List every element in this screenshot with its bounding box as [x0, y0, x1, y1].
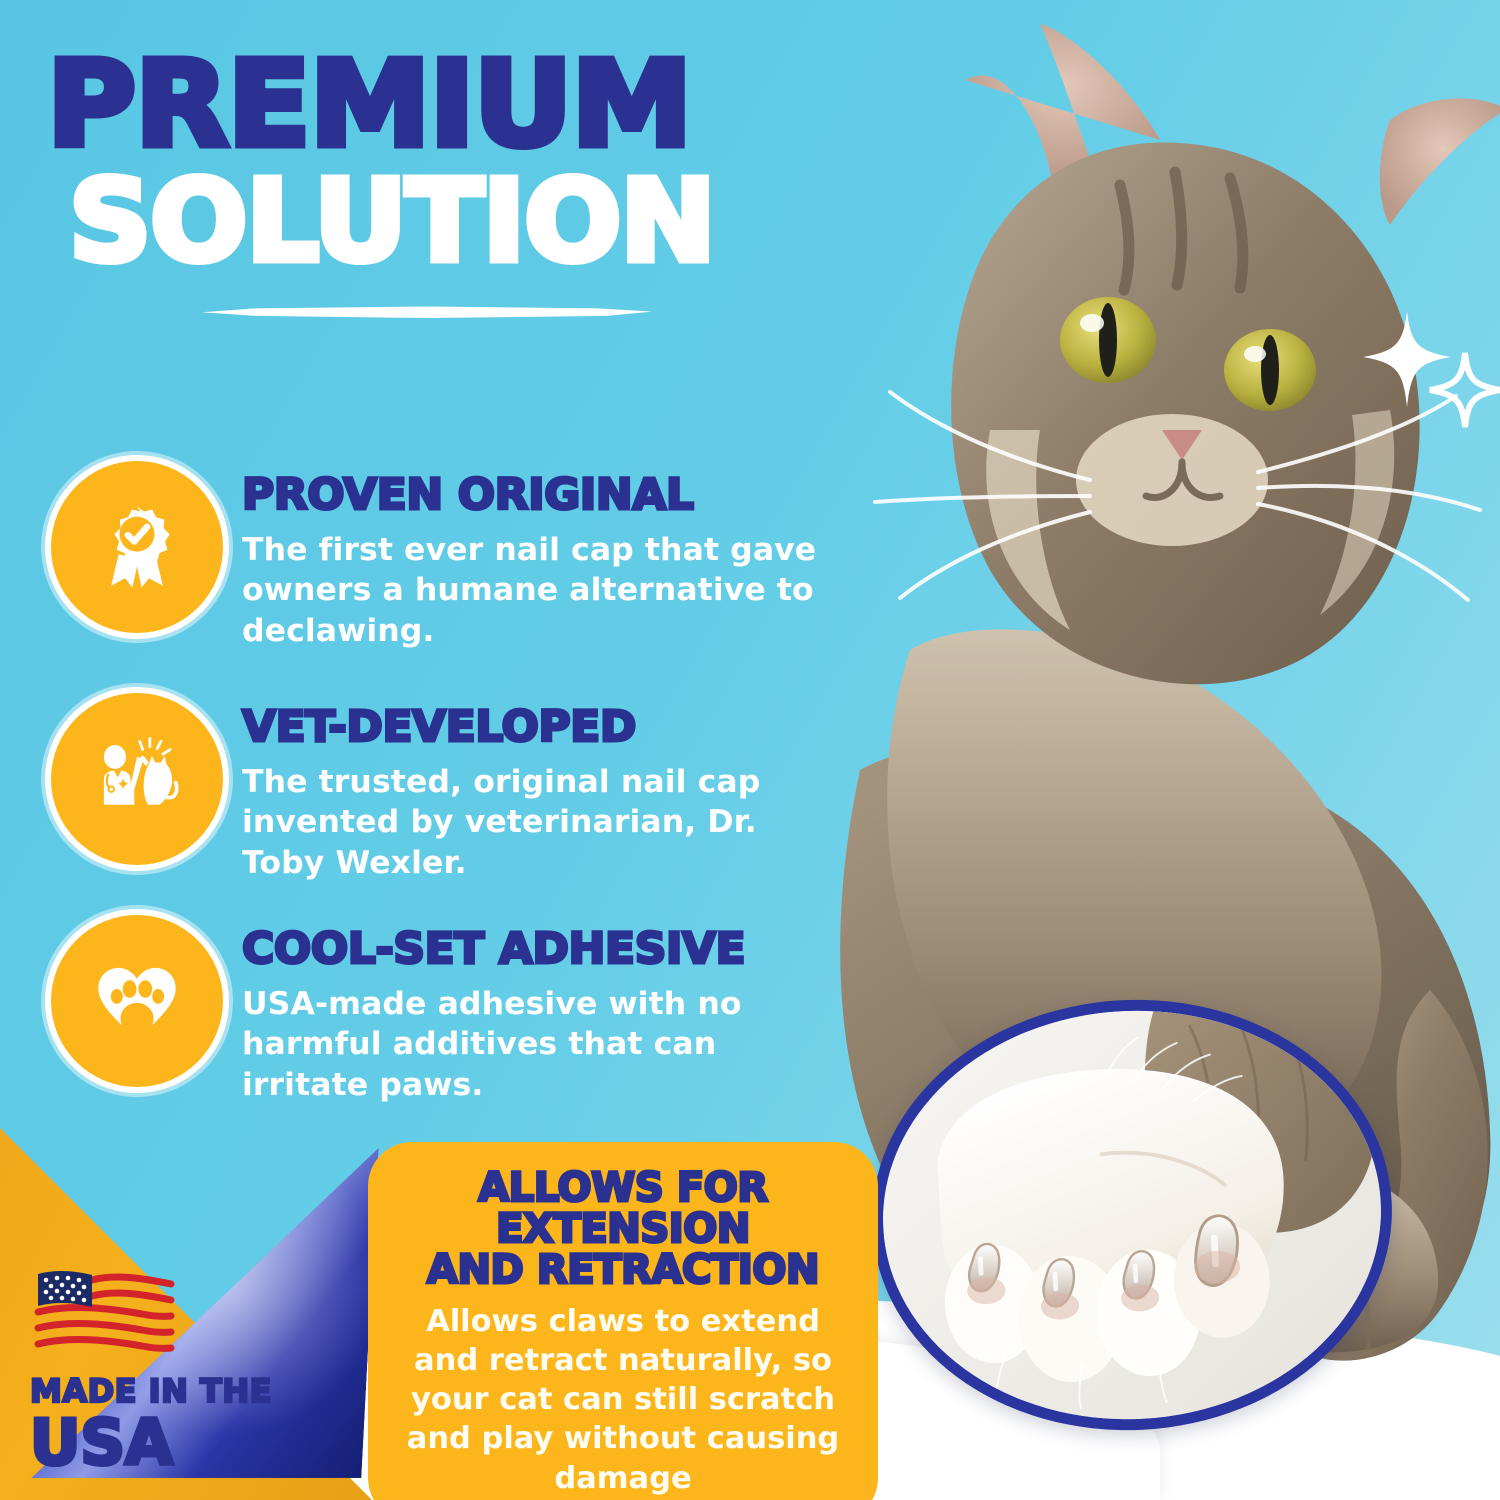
callout-title-line-1: ALLOWS FOR EXTENSION — [392, 1168, 854, 1250]
feature-body: The first ever nail cap that gave owners… — [242, 530, 848, 651]
sparkles-group — [1355, 305, 1500, 435]
vet-high-five-cat-icon — [58, 700, 216, 858]
feature-body: The trusted, original nail cap invented … — [242, 762, 848, 883]
usa-flag-icon — [30, 1266, 178, 1361]
feature-vet-developed: VET-DEVELOPED The trusted, original nail… — [58, 700, 848, 883]
heart-paw-icon — [58, 922, 216, 1080]
feature-title: COOL-SET ADHESIVE — [242, 928, 860, 971]
extension-retraction-callout: ALLOWS FOR EXTENSION AND RETRACTION Allo… — [368, 1142, 878, 1500]
headline-line-2: SOLUTION — [69, 169, 883, 275]
made-in-usa-badge: MADE IN THE USA — [30, 1266, 310, 1474]
feature-body: USA-made adhesive with no harmful additi… — [242, 984, 848, 1105]
feature-proven-original: PROVEN ORIGINAL The first ever nail cap … — [58, 468, 848, 651]
callout-body: Allows claws to extend and retract natur… — [392, 1302, 854, 1497]
infographic-canvas: PREMIUM SOLUTION PROVEN ORIGINAL The fir… — [0, 0, 1500, 1500]
award-ribbon-check-icon — [58, 468, 216, 626]
made-in-usa-line-1: MADE IN THE — [30, 1375, 310, 1407]
page-title: PREMIUM SOLUTION — [47, 50, 867, 321]
feature-title: VET-DEVELOPED — [242, 706, 860, 749]
headline-line-1: PREMIUM — [47, 50, 892, 159]
feature-cool-set-adhesive: COOL-SET ADHESIVE USA-made adhesive with… — [58, 922, 848, 1105]
made-in-usa-line-2: USA — [30, 1411, 310, 1474]
callout-title-line-2: AND RETRACTION — [392, 1250, 854, 1291]
title-underline-swoosh — [202, 303, 652, 321]
sparkle-icon — [1430, 353, 1500, 427]
feature-title: PROVEN ORIGINAL — [242, 474, 860, 517]
